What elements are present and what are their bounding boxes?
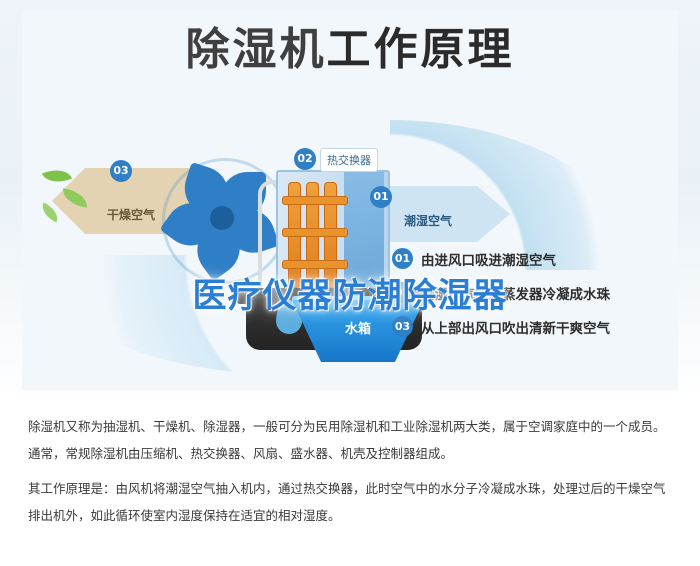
body-paragraph-1: 除湿机又称为抽湿机、干燥机、除湿器，一般可分为民用除湿机和工业除湿机两大类，属于…	[28, 416, 672, 437]
title-part-2: 工作原理	[327, 24, 515, 75]
legend-text: 由进风口吸进潮湿空气	[421, 249, 556, 269]
body-paragraph-2: 通常，常规除湿机由压缩机、热交换器、风扇、盛水器、机壳及控制器组成。	[28, 443, 672, 464]
legend-item: 01 由进风口吸进潮湿空气	[392, 248, 672, 269]
watermark-text: 医疗仪器防潮除湿器	[0, 268, 700, 317]
coil-crossbar	[282, 228, 348, 237]
body-paragraph-3: 其工作原理是：由风机将潮湿空气抽入机内，通过热交换器，此时空气中的水分子冷凝成水…	[28, 478, 672, 499]
title-part-1: 除湿机	[186, 24, 327, 75]
page-title: 除湿机工作原理	[0, 22, 700, 78]
water-tank-label: 水箱	[318, 318, 398, 337]
legend-item: 03 从上部出风口吹出清新干爽空气	[392, 316, 672, 337]
badge-02: 02	[294, 148, 316, 170]
heat-exchanger-label: 热交换器	[320, 148, 378, 172]
page-root: 除湿机工作原理 干燥空气 潮湿空气	[0, 0, 700, 566]
coil-crossbar	[282, 196, 348, 205]
illustration-panel: 除湿机工作原理 干燥空气 潮湿空气	[0, 0, 700, 400]
legend-number: 03	[392, 316, 413, 337]
body-copy: 除湿机又称为抽湿机、干燥机、除湿器，一般可分为民用除湿机和工业除湿机两大类，属于…	[28, 416, 672, 532]
body-paragraph-4: 排出机外，如此循环使室内湿度保持在适宜的相对湿度。	[28, 505, 672, 526]
badge-01: 01	[370, 186, 392, 208]
legend-text: 从上部出风口吹出清新干爽空气	[421, 317, 610, 337]
legend-number: 01	[392, 248, 413, 269]
badge-03: 03	[110, 160, 132, 182]
